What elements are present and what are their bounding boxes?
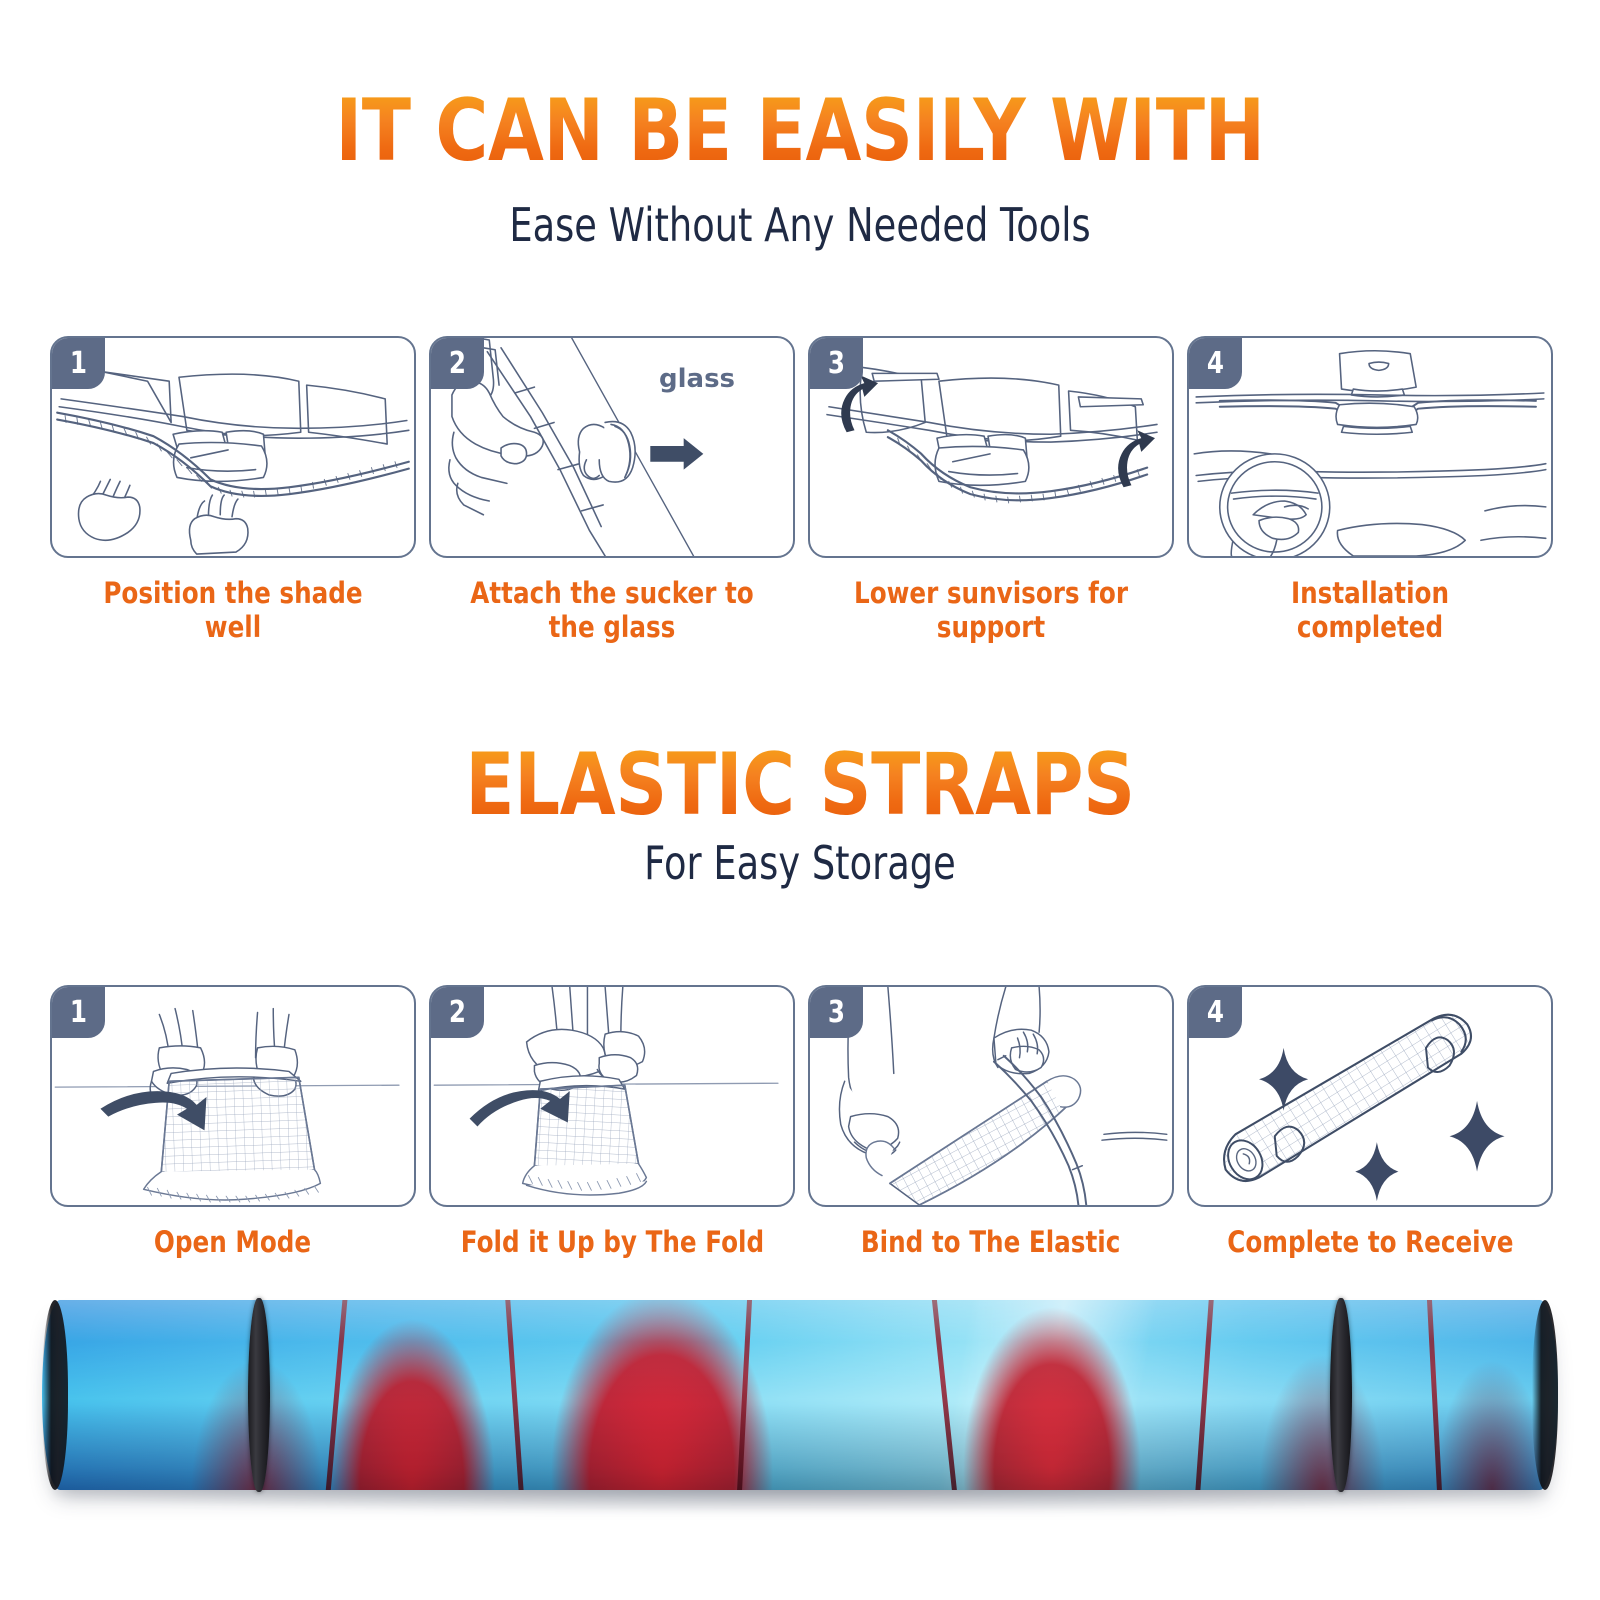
step-number-badge: 1 <box>51 337 105 389</box>
step-number-badge: 3 <box>809 337 863 389</box>
hero-title: IT CAN BE EASILY WITH <box>0 88 1600 174</box>
storage-step-1-caption: Open Mode <box>50 1225 416 1259</box>
hands-holding-open-shade-illustration <box>52 987 414 1205</box>
rose-stem <box>737 1300 753 1490</box>
storage-steps-row: 1 <box>50 985 1550 1259</box>
elastic-band <box>1330 1298 1352 1492</box>
rose-stem <box>325 1300 348 1490</box>
hero-title-text: IT CAN BE EASILY WITH <box>128 88 1472 174</box>
install-step-4-panel: 4 <box>1187 336 1553 558</box>
rose-stem <box>505 1300 524 1490</box>
install-step-2: 2 glass <box>429 336 795 644</box>
storage-step-2-caption: Fold it Up by The Fold <box>429 1225 795 1259</box>
install-step-1-caption: Position the shade well <box>50 576 416 644</box>
installation-steps-row: 1 <box>50 336 1550 644</box>
install-step-1-panel: 1 <box>50 336 416 558</box>
storage-step-2-panel: 2 <box>429 985 795 1207</box>
elastic-band <box>248 1298 270 1492</box>
storage-step-3-panel: 3 <box>808 985 1174 1207</box>
dashboard-sunshade-with-hands-illustration <box>52 338 414 556</box>
product-roll-photo <box>42 1300 1558 1515</box>
storage-step-1-panel: 1 <box>50 985 416 1207</box>
storage-step-4: 4 <box>1187 985 1553 1259</box>
hands-folding-shade-illustration <box>431 987 793 1205</box>
install-step-4: 4 <box>1187 336 1553 644</box>
install-step-2-caption: Attach the sucker to the glass <box>429 576 795 644</box>
roll-left-end <box>42 1300 68 1490</box>
storage-step-1: 1 <box>50 985 416 1259</box>
step-number-badge: 1 <box>51 986 105 1038</box>
glass-annotation-label: glass <box>659 364 735 394</box>
rose-stem <box>1427 1300 1443 1490</box>
hero-subtitle: Ease Without Any Needed Tools <box>0 198 1600 252</box>
install-step-3-panel: 3 <box>808 336 1174 558</box>
storage-step-2: 2 <box>429 985 795 1259</box>
hand-pressing-suction-cup-illustration <box>431 338 793 556</box>
install-step-3-caption: Lower sunvisors for support <box>808 576 1174 644</box>
infographic-page: IT CAN BE EASILY WITH Ease Without Any N… <box>0 0 1600 1600</box>
straps-subtitle: For Easy Storage <box>0 836 1600 890</box>
step-number-badge: 2 <box>430 986 484 1038</box>
step-number-badge: 2 <box>430 337 484 389</box>
roll-right-end <box>1532 1300 1558 1490</box>
car-interior-installed-illustration <box>1189 338 1551 556</box>
hand-binding-elastic-strap-illustration <box>810 987 1172 1205</box>
install-step-4-caption: Installation completed <box>1187 576 1553 644</box>
step-number-badge: 4 <box>1188 337 1242 389</box>
storage-step-4-panel: 4 <box>1187 985 1553 1207</box>
rose-stem <box>1195 1300 1214 1490</box>
straps-title-text: ELASTIC STRAPS <box>128 742 1472 828</box>
hero-subtitle-text: Ease Without Any Needed Tools <box>160 198 1440 252</box>
storage-step-3-caption: Bind to The Elastic <box>808 1225 1174 1259</box>
install-step-2-panel: 2 glass <box>429 336 795 558</box>
step-number-badge: 4 <box>1188 986 1242 1038</box>
rolled-shade-with-sparkles-illustration <box>1189 987 1551 1205</box>
storage-step-4-caption: Complete to Receive <box>1187 1225 1553 1259</box>
storage-step-3: 3 <box>808 985 1174 1259</box>
install-step-1: 1 <box>50 336 416 644</box>
straps-subtitle-text: For Easy Storage <box>160 836 1440 890</box>
sunvisors-lowering-arrows-illustration <box>810 338 1172 556</box>
rose-stem <box>931 1300 958 1490</box>
straps-title: ELASTIC STRAPS <box>0 742 1600 828</box>
step-number-badge: 3 <box>809 986 863 1038</box>
install-step-3: 3 <box>808 336 1174 644</box>
